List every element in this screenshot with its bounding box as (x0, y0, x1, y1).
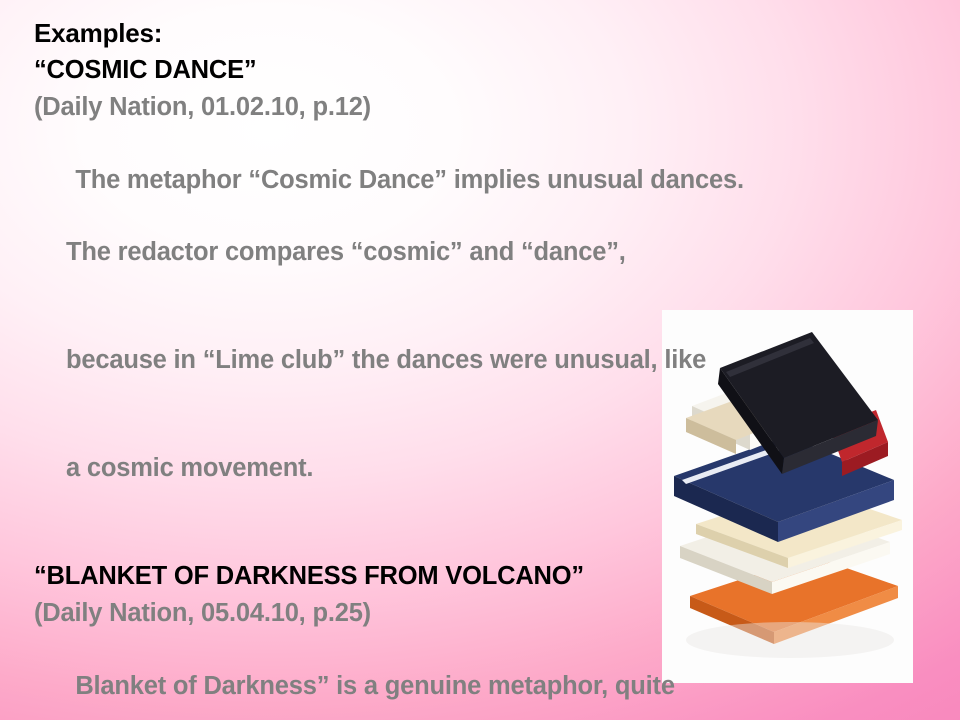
body-line: Blanket of Darkness” is a genuine metaph… (75, 672, 675, 700)
example-citation-blanket-of-darkness: (Daily Nation, 05.04.10, p.25) (34, 595, 960, 632)
example-body-cosmic-dance: The metaphor “Cosmic Dance” implies unus… (34, 126, 960, 558)
body-line: a cosmic movement. (34, 450, 960, 486)
body-line: The metaphor “Cosmic Dance” implies unus… (75, 166, 744, 194)
body-line: because in “Lime club” the dances were u… (34, 342, 960, 378)
example-body-blanket-of-darkness: Blanket of Darkness” is a genuine metaph… (34, 632, 960, 720)
example-heading-cosmic-dance: “COSMIC DANCE” (34, 52, 960, 89)
example-heading-blanket-of-darkness: “BLANKET OF DARKNESS FROM VOLCANO” (34, 558, 960, 595)
example-citation-cosmic-dance: (Daily Nation, 01.02.10, p.12) (34, 89, 960, 126)
body-line: The redactor compares “cosmic” and “danc… (34, 234, 960, 270)
slide-text-content: Examples: “COSMIC DANCE” (Daily Nation, … (0, 0, 960, 720)
slide-canvas: Examples: “COSMIC DANCE” (Daily Nation, … (0, 0, 960, 720)
page-title: Examples: (34, 14, 960, 52)
